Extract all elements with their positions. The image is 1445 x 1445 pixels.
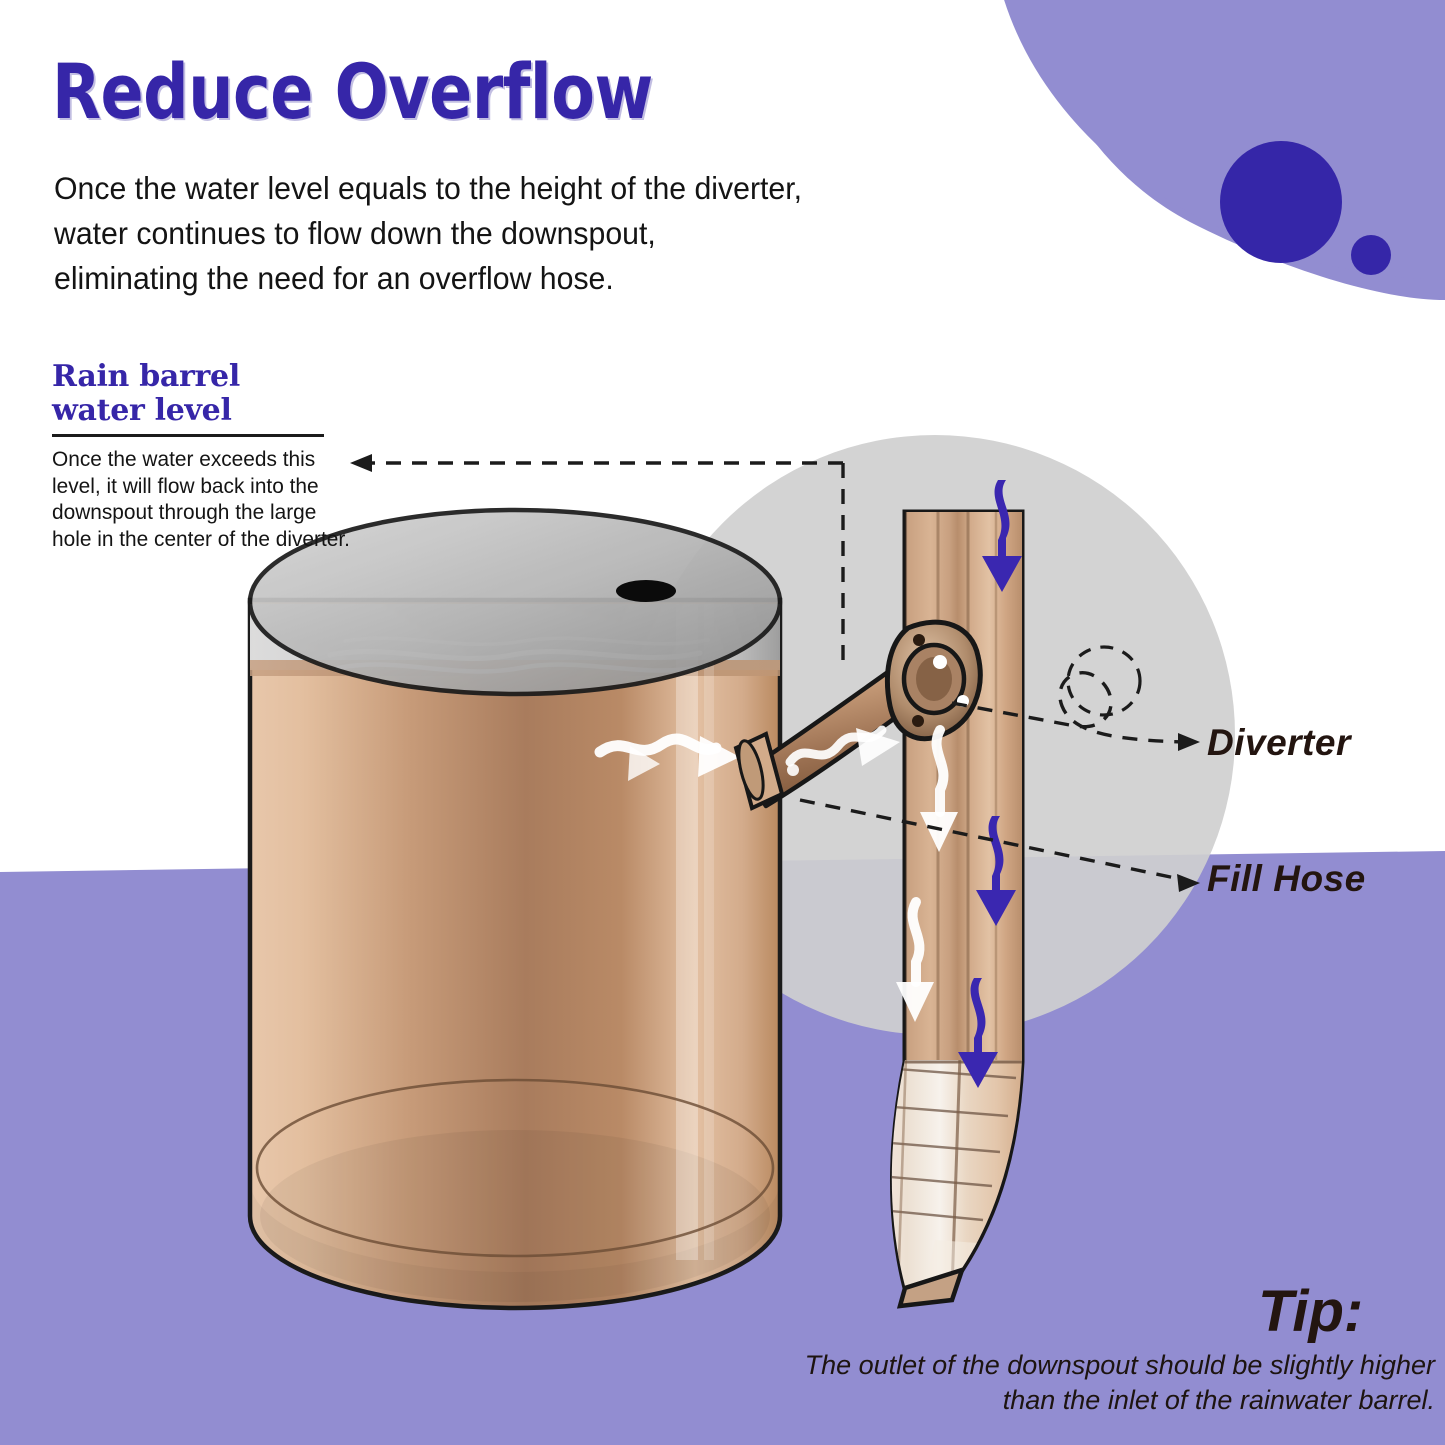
- rain-barrel: [248, 510, 782, 1322]
- barrel-lid-hole: [616, 580, 676, 602]
- tip-body: The outlet of the downspout should be sl…: [745, 1348, 1435, 1418]
- label-fill-hose: Fill Hose: [1207, 858, 1366, 900]
- page-title: Reduce Overflow: [52, 47, 653, 136]
- label-diverter: Diverter: [1207, 722, 1351, 764]
- arrowhead-waterlevel: [350, 454, 372, 472]
- infographic-canvas: Reduce Overflow Once the water level equ…: [0, 0, 1445, 1445]
- decor-circle-small: [1351, 235, 1391, 275]
- decor-circle-large: [1220, 141, 1342, 263]
- callout-divider: [52, 434, 324, 437]
- tip-heading: Tip:: [1258, 1278, 1363, 1345]
- intro-paragraph: Once the water level equals to the heigh…: [54, 166, 802, 301]
- callout-heading: Rain barrel water level: [52, 360, 240, 428]
- callout-body: Once the water exceeds this level, it wi…: [52, 446, 350, 552]
